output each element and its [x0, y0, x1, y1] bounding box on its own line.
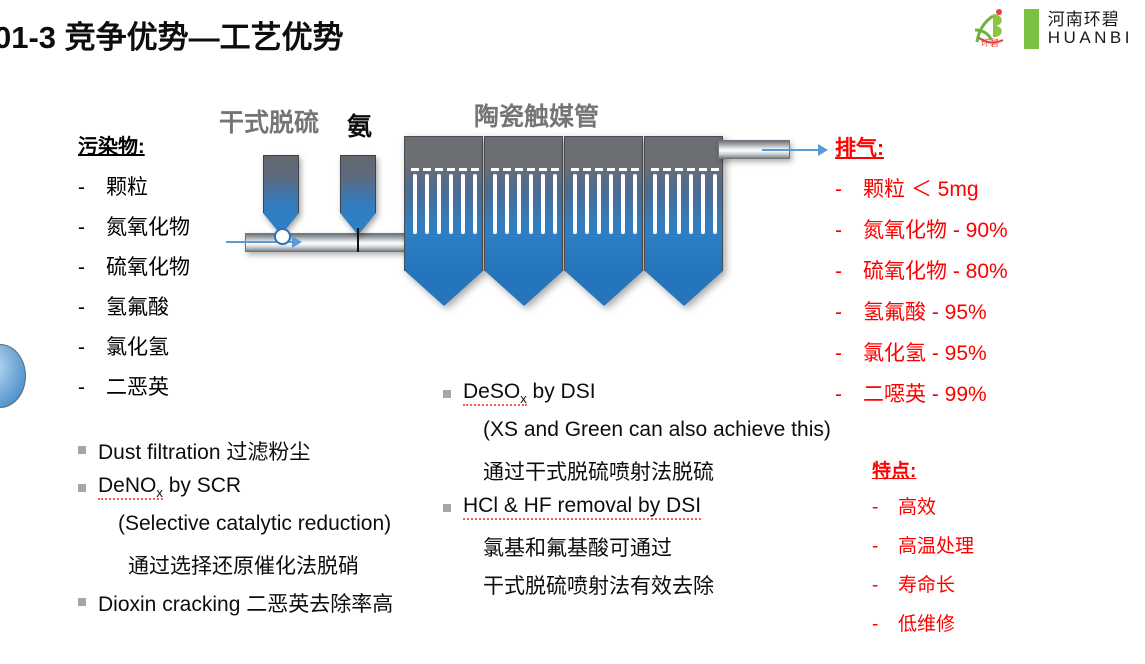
bullet-text: 干式脱硫喷射法有效去除 [463, 570, 714, 600]
logo-name-en: HUANBI [1048, 29, 1133, 47]
exhaust-heading: 排气: [835, 132, 1008, 162]
dash-marker: - [835, 219, 863, 243]
bullet-line-continuation: 氯基和氟基酸可通过 [443, 532, 831, 570]
bullet-text: 氯基和氟基酸可通过 [463, 532, 672, 562]
bullet-line-continuation: (XS and Green can also achieve this) [443, 418, 831, 456]
pollutant-item: -硫氧化物 [78, 251, 190, 291]
square-bullet-icon [443, 380, 463, 400]
company-logo: 环碧 河南环碧 HUANBI [969, 6, 1133, 52]
bullet-line: Dioxin cracking 二恶英去除率高 [78, 588, 393, 626]
middle-bullet-column: DeSOx by DSI (XS and Green can also achi… [443, 380, 831, 608]
dash-marker: - [78, 376, 106, 400]
dash-marker: - [78, 176, 106, 200]
pollutant-label: 氮氧化物 [106, 211, 190, 241]
pollutants-heading: 污染物: [78, 130, 190, 159]
dash-marker: - [78, 296, 106, 320]
spellcheck-underlined-term: HCl & HF removal by DSI [463, 494, 701, 520]
label-ammonia: 氨 [347, 107, 372, 143]
dash-marker: - [872, 497, 898, 519]
exhaust-item: -颗粒 ＜ 5mg [835, 173, 1008, 214]
feature-item: -高温处理 [872, 531, 974, 570]
dash-marker: - [78, 216, 106, 240]
dash-marker: - [78, 336, 106, 360]
slide: 01-3 竞争优势—工艺优势 环碧 河南环碧 HUANBI 干式脱硫 氨 陶瓷触… [0, 0, 1145, 664]
logo-divider-bar [1024, 9, 1039, 49]
label-ceramic-catalyst-tube: 陶瓷触媒管 [474, 97, 599, 133]
exhaust-item: -氢氟酸 - 95% [835, 296, 1008, 337]
left-bullet-column: Dust filtration 过滤粉尘 DeNOx by SCR (Selec… [78, 436, 393, 626]
exhaust-item: -硫氧化物 - 80% [835, 255, 1008, 296]
spellcheck-underlined-term: DeSOx [463, 380, 527, 406]
inlet-arrow-line [226, 241, 294, 243]
features-list: 特点: -高效 -高温处理 -寿命长 -低维修 [872, 456, 974, 648]
feature-item: -高效 [872, 492, 974, 531]
pollutant-item: -颗粒 [78, 171, 190, 211]
bullet-text: 通过干式脱硫喷射法脱硫 [463, 456, 714, 486]
feature-label: 高温处理 [898, 531, 974, 558]
dash-marker: - [78, 256, 106, 280]
bullet-text: (XS and Green can also achieve this) [463, 418, 831, 442]
outlet-arrow-head [818, 144, 828, 156]
bullet-line: Dust filtration 过滤粉尘 [78, 436, 393, 474]
spellcheck-underlined-term: DeNOx [98, 474, 163, 500]
ammonia-silo [340, 155, 376, 235]
filter-unit [404, 136, 483, 306]
pollutant-label: 二恶英 [106, 371, 169, 401]
pollutant-item: -氮氧化物 [78, 211, 190, 251]
dash-marker: - [872, 614, 898, 636]
dash-marker: - [835, 301, 863, 325]
square-bullet-icon [78, 474, 98, 494]
bullet-line-continuation: (Selective catalytic reduction) [78, 512, 393, 550]
bullet-text: 通过选择还原催化法脱硝 [98, 550, 359, 580]
outlet-pipe [718, 140, 790, 159]
filter-unit [484, 136, 563, 306]
dash-marker: - [872, 536, 898, 558]
bullet-line: DeNOx by SCR [78, 474, 393, 512]
bullet-text: Dust filtration 过滤粉尘 [98, 436, 310, 466]
exhaust-item: -氯化氢 - 95% [835, 337, 1008, 378]
dash-marker: - [835, 342, 863, 366]
inlet-pipe [245, 233, 420, 252]
pollutant-label: 硫氧化物 [106, 251, 190, 281]
pollutant-label: 颗粒 [106, 171, 148, 201]
pollutant-item: -氯化氢 [78, 331, 190, 371]
dry-desulfurization-silo [263, 155, 299, 235]
exhaust-item: -二噁英 - 99% [835, 378, 1008, 419]
exhaust-list: 排气: -颗粒 ＜ 5mg -氮氧化物 - 90% -硫氧化物 - 80% -氢… [835, 132, 1008, 419]
feature-item: -低维修 [872, 609, 974, 648]
pollutant-label: 氢氟酸 [106, 291, 169, 321]
label-dry-desulfurization: 干式脱硫 [219, 103, 319, 139]
bullet-text: Dioxin cracking 二恶英去除率高 [98, 588, 393, 618]
feature-label: 寿命长 [898, 570, 955, 597]
exhaust-label: 氢氟酸 - 95% [863, 296, 987, 326]
bullet-text: DeNOx by SCR [98, 474, 241, 500]
pollutant-item: -二恶英 [78, 371, 190, 411]
bullet-line-continuation: 通过干式脱硫喷射法脱硫 [443, 456, 831, 494]
dash-marker: - [835, 383, 863, 407]
silo2-injection-lance [357, 228, 359, 252]
dash-marker: - [835, 178, 863, 202]
square-bullet-icon [78, 436, 98, 456]
exhaust-label: 氯化氢 - 95% [863, 337, 987, 367]
bullet-text: HCl & HF removal by DSI [463, 494, 701, 518]
huanbi-logo-icon: 环碧 [969, 6, 1015, 52]
outlet-arrow-line [762, 149, 820, 151]
square-bullet-icon [443, 494, 463, 514]
exhaust-label: 氮氧化物 - 90% [863, 214, 1008, 244]
features-heading: 特点: [872, 456, 974, 483]
filter-unit [564, 136, 643, 306]
logo-name-cn: 河南环碧 [1048, 11, 1133, 29]
feature-label: 低维修 [898, 609, 955, 636]
dash-marker: - [872, 575, 898, 597]
bullet-line: DeSOx by DSI [443, 380, 831, 418]
pollutant-label: 氯化氢 [106, 331, 169, 361]
bullet-line: HCl & HF removal by DSI [443, 494, 831, 532]
pollutants-list: 污染物: -颗粒 -氮氧化物 -硫氧化物 -氢氟酸 -氯化氢 -二恶英 [78, 130, 190, 411]
dash-marker: - [835, 260, 863, 284]
bullet-line-continuation: 通过选择还原催化法脱硝 [78, 550, 393, 588]
square-bullet-icon [78, 588, 98, 608]
logo-text: 河南环碧 HUANBI [1048, 11, 1133, 47]
bullet-text: (Selective catalytic reduction) [98, 512, 391, 536]
page-title: 01-3 竞争优势—工艺优势 [0, 12, 344, 57]
pollutant-item: -氢氟酸 [78, 291, 190, 331]
exhaust-item: -氮氧化物 - 90% [835, 214, 1008, 255]
exhaust-label: 二噁英 - 99% [863, 378, 987, 408]
filter-unit [644, 136, 723, 306]
bullet-text: DeSOx by DSI [463, 380, 596, 406]
silo1-injection-port [274, 228, 291, 245]
feature-label: 高效 [898, 492, 936, 519]
decorative-ellipse [0, 344, 26, 408]
exhaust-label: 颗粒 ＜ 5mg [863, 173, 979, 203]
svg-text:环碧: 环碧 [981, 37, 999, 49]
bullet-line-continuation: 干式脱硫喷射法有效去除 [443, 570, 831, 608]
feature-item: -寿命长 [872, 570, 974, 609]
exhaust-label: 硫氧化物 - 80% [863, 255, 1008, 285]
inlet-arrow-head [292, 236, 302, 248]
